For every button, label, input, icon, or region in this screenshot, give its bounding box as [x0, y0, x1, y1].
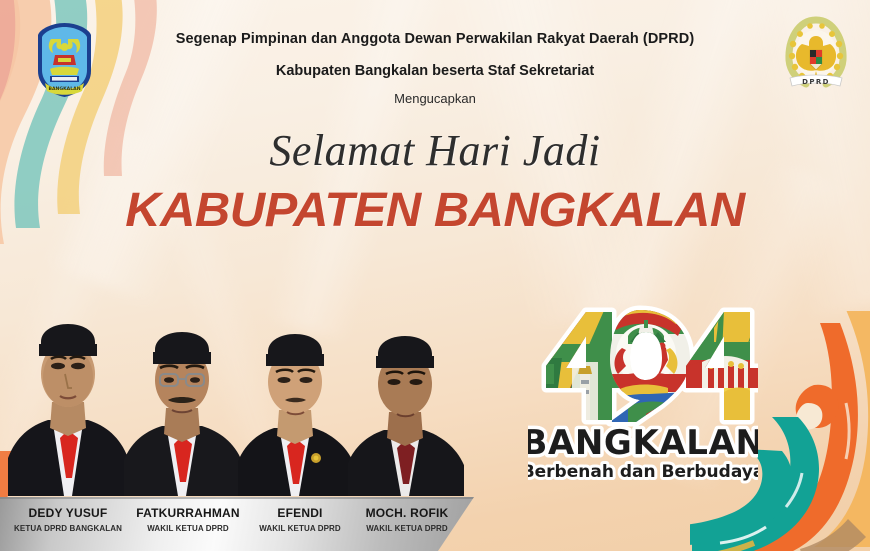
official-name: MOCH. ROFIK — [350, 506, 464, 520]
official-entry-2: EFENDI WAKIL KETUA DPRD — [248, 506, 352, 533]
official-title: WAKIL KETUA DPRD — [350, 524, 464, 533]
officials-portraits-group — [0, 266, 470, 496]
greeting-script-line: Selamat Hari Jadi — [0, 125, 870, 176]
official-entry-0: DEDY YUSUF KETUA DPRD BANGKALAN — [10, 506, 126, 533]
official-title: WAKIL KETUA DPRD — [248, 524, 352, 533]
official-name: DEDY YUSUF — [10, 506, 126, 520]
anniversary-poster: BANGKALAN DPRD Segenap Pimpinan dan Angg… — [0, 0, 870, 551]
official-entry-3: MOCH. ROFIK WAKIL KETUA DPRD — [350, 506, 464, 533]
header-line-3-mengucapkan: Mengucapkan — [0, 91, 870, 106]
officials-name-bar: DEDY YUSUF KETUA DPRD BANGKALAN FATKURRA… — [0, 497, 474, 551]
header-line-1: Segenap Pimpinan dan Anggota Dewan Perwa… — [0, 29, 870, 50]
official-title: WAKIL KETUA DPRD — [128, 524, 248, 533]
logo-tagline: Berbenah dan Berbudaya — [528, 462, 758, 482]
portrait-efendi — [238, 300, 354, 496]
official-title: KETUA DPRD BANGKALAN — [10, 524, 126, 533]
portrait-fatkurrahman — [124, 296, 242, 496]
official-name: FATKURRAHMAN — [128, 506, 248, 520]
portrait-moch-rofik — [348, 306, 464, 496]
greeting-headline: KABUPATEN BANGKALAN — [0, 183, 870, 238]
header-line-2: Kabupaten Bangkalan beserta Staf Sekreta… — [0, 61, 870, 82]
name-bar-top-divider — [0, 497, 474, 499]
logo-city-label: BANGKALAN — [528, 423, 758, 463]
anniversary-logo-494-bangkalan: BANGKALAN BANGKALAN Berbenah dan Berbuda… — [528, 296, 758, 486]
official-entry-1: FATKURRAHMAN WAKIL KETUA DPRD — [128, 506, 248, 533]
official-name: EFENDI — [248, 506, 352, 520]
portrait-dedy-yusuf — [8, 278, 128, 496]
